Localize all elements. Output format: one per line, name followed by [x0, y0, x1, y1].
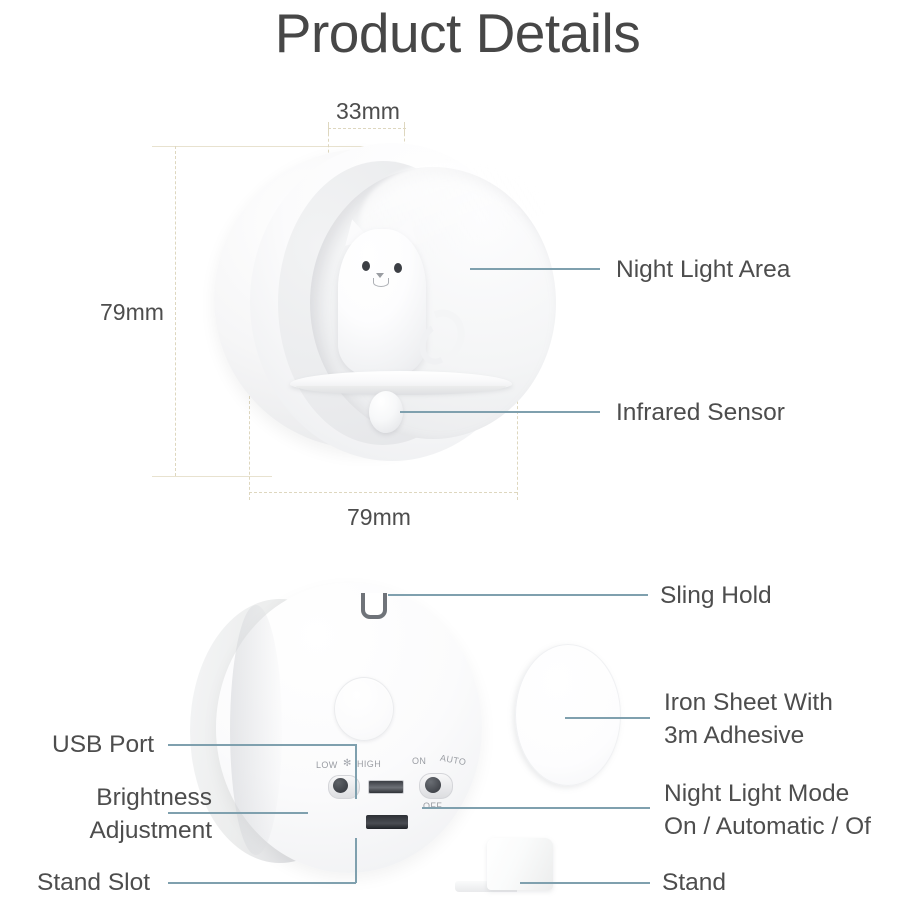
cat-eye-right-icon	[394, 263, 402, 273]
dimension-label-width: 79mm	[347, 504, 411, 531]
brightness-sun-icon: ✻	[343, 758, 351, 769]
infrared-sensor-dome	[369, 391, 403, 433]
lamp-back-center-button[interactable]	[334, 677, 394, 741]
leader-line-stand	[520, 882, 650, 884]
lamp-front-view	[214, 143, 534, 473]
leader-line-usb-port-vertical	[355, 744, 357, 799]
dimension-reference-bottom-left	[152, 476, 272, 477]
callout-sling-hold: Sling Hold	[660, 579, 772, 612]
callout-stand: Stand	[662, 866, 726, 899]
dimension-label-depth: 33mm	[336, 98, 400, 125]
cat-figure	[332, 205, 442, 377]
control-label-on: ON	[412, 756, 426, 766]
dimension-bracket-depth	[328, 128, 406, 129]
leader-line-iron-sheet	[565, 717, 650, 719]
callout-usb-port: USB Port	[52, 728, 154, 761]
stand-slot	[366, 815, 408, 829]
lamp-back-groove	[230, 605, 282, 855]
leader-line-stand-slot-vertical	[355, 838, 357, 883]
stand-accessory	[455, 838, 585, 900]
callout-iron-sheet: Iron Sheet With 3m Adhesive	[664, 686, 914, 752]
callout-brightness-line1: Brightness	[22, 781, 212, 814]
callout-stand-slot: Stand Slot	[37, 866, 150, 899]
leader-line-sling-hold	[388, 594, 648, 596]
leader-line-night-light-mode	[422, 807, 650, 809]
leader-line-usb-port-horizontal	[168, 744, 356, 746]
leader-line-night-light-area	[470, 268, 600, 270]
cat-eye-left-icon	[362, 261, 370, 271]
callout-iron-sheet-line2: 3m Adhesive	[664, 719, 914, 752]
dimension-label-height: 79mm	[100, 299, 164, 326]
product-details-infographic: Product Details 33mm 79mm 79mm	[0, 0, 915, 915]
leader-line-infrared-sensor	[400, 411, 600, 413]
callout-iron-sheet-line1: Iron Sheet With	[664, 686, 914, 719]
dimension-bracket-width	[249, 492, 517, 493]
callout-brightness-line2: Adjustment	[22, 814, 212, 847]
iron-sheet-disc	[515, 644, 621, 786]
cat-body	[338, 229, 426, 377]
callout-night-light-mode-line2: On / Automatic / Of	[664, 810, 915, 843]
lamp-back-view: LOW ✻ HIGH ON AUTO OFF	[190, 583, 500, 883]
control-label-auto: AUTO	[439, 753, 467, 767]
control-label-high: HIGH	[357, 759, 381, 769]
brightness-switch-knob[interactable]	[333, 778, 348, 793]
callout-night-light-area: Night Light Area	[616, 253, 790, 286]
callout-night-light-mode-line1: Night Light Mode	[664, 777, 915, 810]
page-title: Product Details	[0, 2, 915, 64]
cat-mouth-icon	[373, 278, 389, 287]
callout-brightness-adjustment: Brightness Adjustment	[22, 781, 212, 847]
control-label-off: OFF	[423, 801, 442, 811]
mode-switch-knob[interactable]	[425, 777, 441, 793]
dimension-guide-height	[175, 146, 176, 476]
sling-hold-slot	[361, 593, 387, 619]
leader-line-stand-slot-horizontal	[168, 882, 356, 884]
control-label-low: LOW	[316, 760, 338, 770]
lamp-back-face: LOW ✻ HIGH ON AUTO OFF	[216, 583, 482, 873]
usb-port[interactable]	[368, 780, 404, 794]
callout-night-light-mode: Night Light Mode On / Automatic / Of	[664, 777, 915, 843]
leader-line-brightness	[168, 812, 308, 814]
callout-infrared-sensor: Infrared Sensor	[616, 396, 785, 429]
